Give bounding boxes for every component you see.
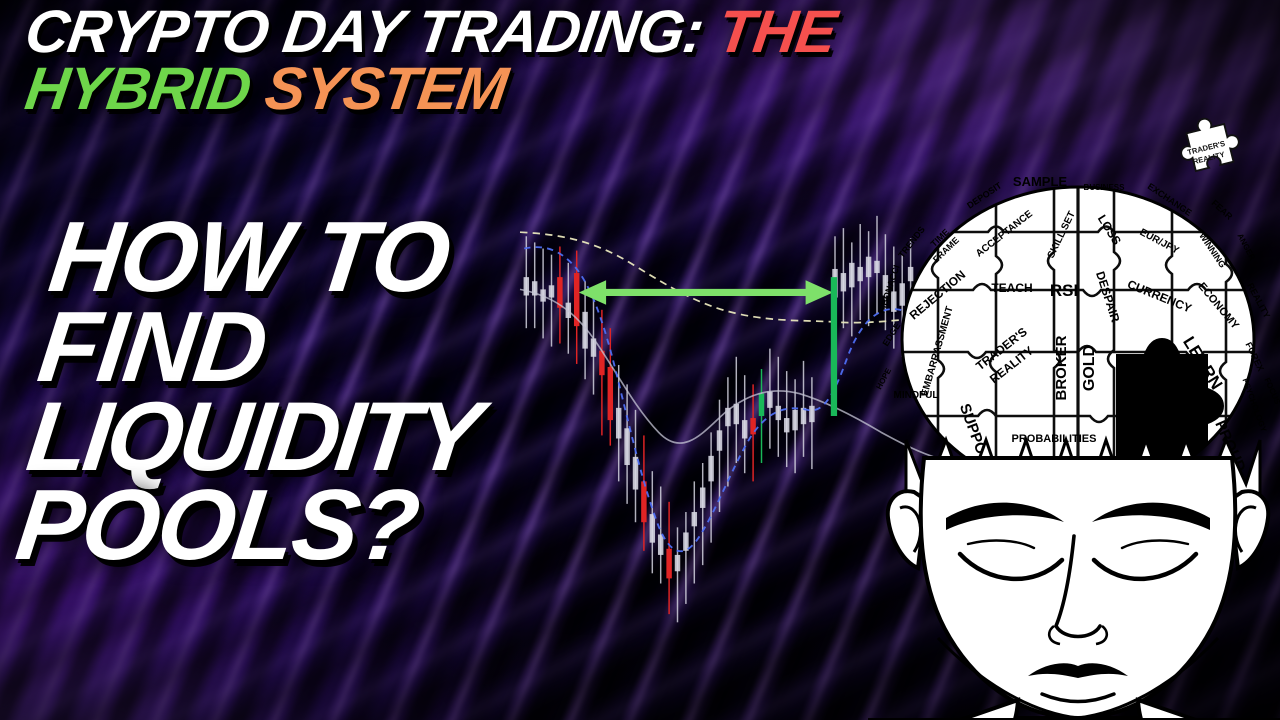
- candle-body: [633, 457, 638, 490]
- candle-body: [849, 263, 854, 288]
- candle-body: [692, 512, 697, 526]
- svg-text:MARKET: MARKET: [1116, 431, 1185, 448]
- svg-text:BUSINESS: BUSINESS: [1084, 183, 1126, 192]
- svg-text:HOPE: HOPE: [874, 366, 893, 391]
- svg-text:TRENDS: TRENDS: [896, 224, 927, 259]
- candle-body: [742, 420, 747, 438]
- title-word-the: THE: [714, 0, 840, 65]
- candle-body: [666, 549, 671, 579]
- title-line-1: CRYPTO DAY TRADING: THE: [22, 4, 990, 59]
- svg-text:FOCUS: FOCUS: [1262, 376, 1280, 406]
- candle-body: [650, 514, 655, 543]
- hook-question: HOW TO FIND LIQUIDITY POOLS?: [12, 212, 576, 570]
- candle-body: [658, 534, 663, 554]
- title-line-2: HYBRID SYSTEM: [22, 61, 990, 116]
- logo-puzzle-piece-icon: TRADER'S REALITY: [1168, 112, 1244, 192]
- head-svg: SAMPLE BUSINESS DEPOSIT EXCHANGE FEAR TR…: [868, 140, 1280, 720]
- hook-line-1: HOW TO: [45, 212, 576, 302]
- svg-text:SAMPLE: SAMPLE: [1013, 174, 1068, 189]
- title-word-hybrid: HYBRID: [21, 55, 254, 122]
- svg-text:GOLD: GOLD: [1081, 345, 1098, 391]
- svg-text:RSI: RSI: [1050, 281, 1078, 300]
- candle-body: [708, 456, 713, 482]
- traders-reality-logo: TRADER'S REALITY: [1168, 112, 1244, 192]
- candle-body: [784, 418, 789, 432]
- candle-body: [841, 273, 846, 291]
- headline-block: CRYPTO DAY TRADING: THE HYBRID SYSTEM: [26, 4, 986, 116]
- hook-line-4: POOLS?: [12, 480, 543, 570]
- candle-body: [608, 367, 613, 420]
- candle-body: [641, 481, 646, 522]
- candle-body: [767, 392, 772, 408]
- svg-text:PSYCHOLOGY: PSYCHOLOGY: [1240, 377, 1268, 434]
- candle-body: [759, 394, 764, 416]
- svg-text:FIBONACCI: FIBONACCI: [877, 264, 902, 315]
- title-word-system: SYSTEM: [261, 55, 511, 122]
- thumbnail-canvas: SAMPLE BUSINESS DEPOSIT EXCHANGE FEAR TR…: [0, 0, 1280, 720]
- candle-body: [624, 428, 629, 465]
- svg-text:FEAR: FEAR: [1210, 198, 1235, 222]
- svg-text:MINDFUL: MINDFUL: [894, 390, 939, 401]
- candle-body: [717, 430, 722, 450]
- candle-body: [776, 406, 781, 420]
- candle-body: [792, 410, 797, 430]
- svg-text:EDGE: EDGE: [880, 321, 902, 348]
- trader-head-illustration: SAMPLE BUSINESS DEPOSIT EXCHANGE FEAR TR…: [868, 140, 1280, 720]
- candle-body: [675, 555, 680, 571]
- candle-body: [616, 408, 621, 439]
- candle-body: [750, 418, 755, 434]
- svg-text:BROKER: BROKER: [1053, 335, 1070, 400]
- hook-line-3: LIQUIDITY: [23, 392, 554, 480]
- face-illustration: [868, 458, 1280, 720]
- candle-body: [857, 267, 862, 281]
- svg-text:TEACH: TEACH: [991, 281, 1032, 295]
- candle-body: [734, 404, 739, 424]
- hook-line-2: FIND: [34, 302, 565, 392]
- candle-body: [700, 488, 705, 508]
- svg-text:ANGER: ANGER: [1235, 232, 1257, 262]
- candle-body: [809, 406, 814, 422]
- liquidity-range-arrow: [579, 280, 833, 305]
